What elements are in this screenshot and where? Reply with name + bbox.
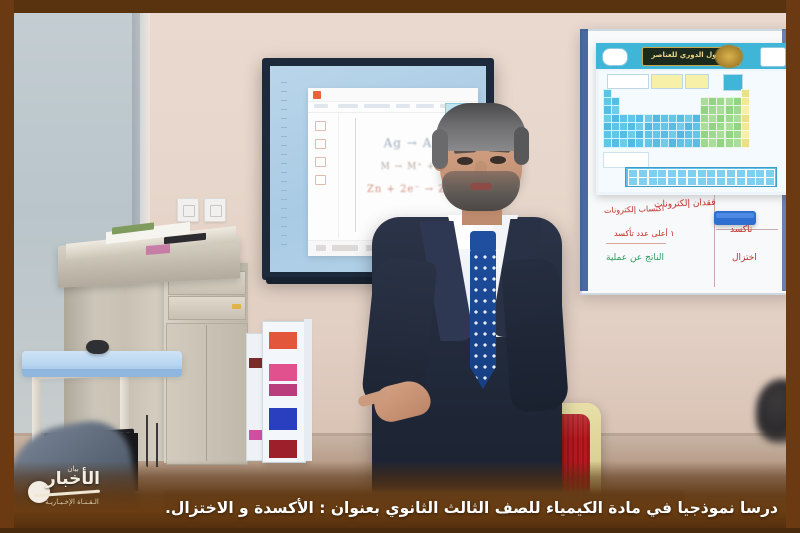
- photo-frame-right: [786, 0, 800, 533]
- presentation-titlebar: [308, 88, 478, 102]
- poster-header: الجدول الدوري للعناصر: [596, 43, 786, 69]
- whiteboard-note: اختزال: [732, 253, 757, 263]
- logo-line-sub: الـقـنـاة الإخـبـاريـة: [40, 498, 104, 506]
- mouth: [470, 183, 492, 190]
- news-photograph: Ag → Ag⁺ M → M⁺ + e⁻ Zn + 2e⁻ → Zn²⁺: [14, 13, 786, 528]
- lanthanide-cell: [638, 177, 648, 186]
- necktie: [470, 251, 496, 389]
- slide-thumbnail-pane: [308, 113, 339, 238]
- lanthanide-block: [625, 167, 777, 187]
- cable: [146, 415, 148, 467]
- poster-legend-box: [685, 74, 709, 89]
- screenshot-root: Ag → Ag⁺ M → M⁺ + e⁻ Zn + 2e⁻ → Zn²⁺: [0, 0, 800, 533]
- whiteboard-frame-left: [580, 29, 588, 291]
- channel-logo: بيان الأخبار الـقـنـاة الإخـبـاريـة: [26, 467, 108, 517]
- slide-divider: [355, 118, 356, 232]
- lanthanide-cell: [667, 177, 677, 186]
- photo-frame-left: [0, 0, 14, 533]
- caption-bar: درسا نموذجيا في مادة الكيمياء للصف الثال…: [0, 461, 800, 533]
- lanthanide-cell: [697, 177, 707, 186]
- lanthanide-cell: [687, 177, 697, 186]
- lanthanide-cell: [736, 177, 746, 186]
- eye: [457, 157, 473, 165]
- periodic-table-poster: الجدول الدوري للعناصر: [596, 43, 786, 195]
- lanthanide-cell: [755, 177, 765, 186]
- poster-note-box: [603, 152, 649, 168]
- whiteboard-note: ١ أعلى عدد تأكسد: [614, 229, 675, 238]
- poster-emblem-icon: [714, 44, 744, 69]
- lanthanide-cell: [657, 177, 667, 186]
- smartboard-ruler-icon: [281, 82, 287, 252]
- lanthanide-cell: [716, 177, 726, 186]
- caption-text: درسا نموذجيا في مادة الكيمياء للصف الثال…: [120, 498, 778, 519]
- poster-edge: [304, 319, 312, 461]
- lanthanide-cell: [706, 177, 716, 186]
- hair-side: [514, 127, 529, 165]
- whiteboard-eraser: [714, 211, 756, 225]
- blue-table-edge: [22, 369, 182, 377]
- hair: [436, 103, 526, 151]
- poster-color-swatch: [269, 364, 297, 381]
- lanthanide-cell: [726, 177, 736, 186]
- logo-line-main: الأخبار: [38, 469, 108, 489]
- powerpoint-icon: [313, 91, 321, 99]
- cabinet-door: [166, 323, 248, 465]
- poster-color-swatch: [269, 440, 297, 458]
- poster-legend-box: [651, 74, 683, 89]
- wall-socket-icon: [177, 198, 199, 222]
- jacket-sleeve-right: [501, 257, 569, 413]
- whiteboard-note: تأكسد: [730, 225, 752, 235]
- hair-side: [432, 129, 448, 169]
- photo-frame-bottom: [0, 528, 800, 533]
- poster-color-swatch: [269, 408, 297, 430]
- poster-color-swatch: [269, 332, 297, 349]
- lanthanide-cell: [648, 177, 658, 186]
- lanthanide-cell: [746, 177, 756, 186]
- lanthanide-cell: [677, 177, 687, 186]
- periodic-table-cell: [741, 138, 750, 148]
- poster-primary: [262, 321, 306, 463]
- whiteboard-divider-line: [606, 243, 666, 244]
- poster-logo-left-icon: [602, 48, 628, 66]
- poster-color-swatch: [269, 384, 297, 396]
- cabinet-door-split: [206, 325, 207, 461]
- tie-knot: [470, 231, 496, 253]
- teacher: [366, 109, 566, 489]
- computer-mouse: [86, 340, 109, 354]
- lanthanide-cell: [765, 177, 775, 186]
- poster-legend-box: [607, 74, 649, 89]
- poster-body: [599, 71, 786, 192]
- beard: [442, 171, 520, 211]
- whiteboard-divider-line: [714, 195, 715, 287]
- wall-socket-icon: [204, 198, 226, 222]
- cabinet-handle: [232, 304, 241, 309]
- eye: [490, 156, 506, 164]
- lanthanide-cell: [628, 177, 638, 186]
- poster-logo-right-icon: [760, 47, 786, 67]
- photo-frame-top: [0, 0, 800, 13]
- whiteboard-note: الناتج عن عملية: [606, 253, 664, 263]
